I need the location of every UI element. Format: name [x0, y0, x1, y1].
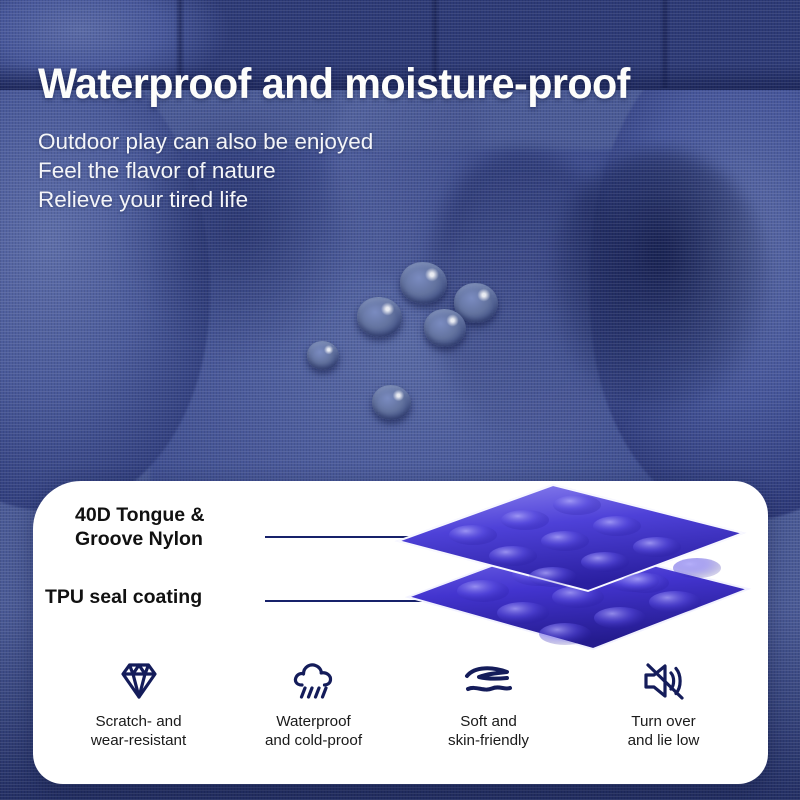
hero-subline: Feel the flavor of nature	[38, 156, 373, 185]
feature-caption-line2: and cold-proof	[265, 731, 362, 750]
feature-caption-line1: Scratch- and	[91, 712, 186, 731]
feature-waterproof-coldproof: Waterproof and cold-proof	[226, 657, 401, 750]
hero-subline: Relieve your tired life	[38, 185, 373, 214]
feature-row: Scratch- and wear-resistant	[51, 657, 751, 750]
feature-turn-over-lie-low: Turn over and lie low	[576, 657, 751, 750]
diamond-icon	[116, 657, 162, 705]
page-title: Waterproof and moisture-proof	[38, 60, 739, 109]
water-droplet	[372, 385, 411, 420]
feature-caption: Turn over and lie low	[628, 712, 700, 750]
feature-scratch-resistant: Scratch- and wear-resistant	[51, 657, 226, 750]
feature-caption-line1: Waterproof	[265, 712, 362, 731]
water-droplet	[307, 341, 339, 370]
feature-caption-line1: Turn over	[628, 712, 700, 731]
water-droplet	[400, 262, 447, 304]
feature-caption-line2: skin-friendly	[448, 731, 529, 750]
hero-subline: Outdoor play can also be enjoyed	[38, 127, 373, 156]
feature-soft-skin-friendly: Soft and skin-friendly	[401, 657, 576, 750]
mute-speaker-icon	[641, 657, 687, 705]
hero-subline-group: Outdoor play can also be enjoyed Feel th…	[38, 127, 373, 214]
feature-caption-line2: wear-resistant	[91, 731, 186, 750]
label-nylon: 40D Tongue & Groove Nylon	[75, 503, 205, 551]
rain-cloud-icon	[290, 657, 338, 705]
wave-lines-icon	[463, 657, 515, 705]
label-tpu-line1: TPU seal coating	[45, 585, 202, 609]
label-tpu: TPU seal coating	[45, 585, 202, 609]
feature-caption: Scratch- and wear-resistant	[91, 712, 186, 750]
feature-caption: Soft and skin-friendly	[448, 712, 529, 750]
water-droplet	[424, 309, 466, 347]
top-layer-nylon	[398, 485, 743, 593]
info-card: 40D Tongue & Groove Nylon TPU seal coati…	[33, 481, 768, 784]
layers-svg	[353, 479, 773, 654]
product-feature-banner: Waterproof and moisture-proof Outdoor pl…	[0, 0, 800, 800]
label-nylon-line2: Groove Nylon	[75, 527, 205, 551]
label-nylon-line1: 40D Tongue &	[75, 503, 205, 527]
layered-material-illustration	[353, 479, 773, 654]
feature-caption-line1: Soft and	[448, 712, 529, 731]
feature-caption: Waterproof and cold-proof	[265, 712, 362, 750]
feature-caption-line2: and lie low	[628, 731, 700, 750]
water-droplet	[357, 297, 402, 337]
